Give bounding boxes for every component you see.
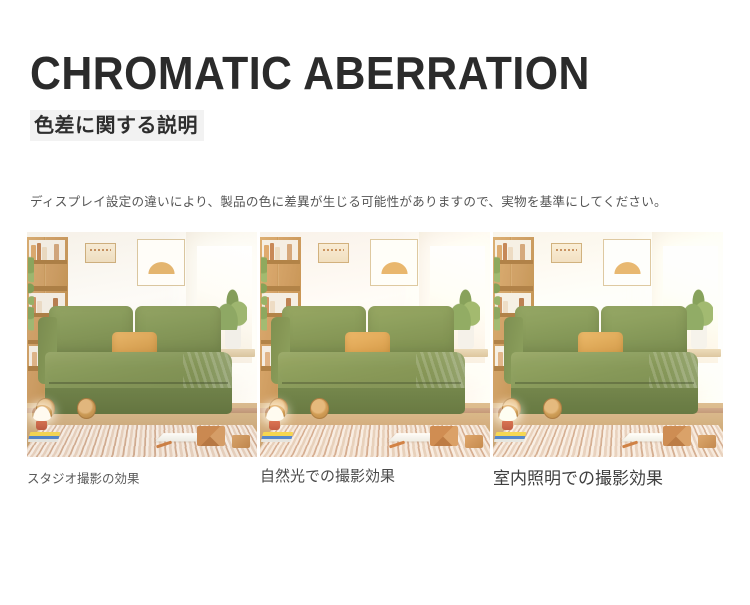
cup	[36, 421, 46, 430]
cup	[502, 421, 512, 430]
sofa-wheel	[543, 398, 562, 418]
sofa-seam	[515, 382, 694, 384]
wooden-blocks	[197, 426, 225, 446]
floor-lamp	[32, 405, 53, 421]
sofa-wheel	[310, 398, 329, 418]
sofa-seam	[49, 382, 228, 384]
subtitle-highlight: 色差に関する説明	[30, 110, 204, 141]
room-scene	[260, 232, 490, 457]
sofa-wheel	[77, 398, 96, 418]
sofa-bed	[278, 306, 464, 414]
shelf-bay	[29, 240, 65, 260]
sofa-front-panel	[511, 388, 697, 414]
open-magazine	[389, 433, 431, 441]
chromatic-aberration-page: CHROMATIC ABERRATION 色差に関する説明 ディスプレイ設定の違…	[0, 0, 750, 605]
floor-lamp	[498, 405, 519, 421]
wall-frame-large	[370, 239, 418, 286]
wall-frame-small	[318, 243, 350, 263]
caption-indoor-lighting: 室内照明での撮影効果	[493, 464, 727, 489]
stacked-books	[494, 432, 526, 442]
page-title: CHROMATIC ABERRATION	[30, 48, 681, 98]
sofa-seam	[282, 382, 461, 384]
caption-natural-light: 自然光での撮影効果	[260, 464, 493, 489]
open-magazine	[156, 433, 198, 441]
product-photo-gallery	[27, 232, 723, 457]
wooden-blocks	[430, 426, 458, 446]
wooden-blocks	[698, 435, 716, 449]
sofa-bed	[511, 306, 697, 414]
shelf-bay	[495, 240, 531, 260]
floor-lamp	[265, 405, 286, 421]
shelf-bay	[262, 240, 298, 260]
product-photo-indoor-lighting	[493, 232, 723, 457]
stacked-books	[28, 432, 60, 442]
shelf-plant-icon	[261, 256, 268, 333]
sofa-front-panel	[278, 388, 464, 414]
wall-frame-small	[85, 243, 117, 263]
sofa-bed	[45, 306, 231, 414]
page-subtitle: 色差に関する説明	[34, 113, 198, 137]
wooden-blocks	[663, 426, 691, 446]
wooden-blocks	[232, 435, 250, 449]
room-scene	[27, 232, 257, 457]
wooden-blocks	[465, 435, 483, 449]
wall-frame-large	[603, 239, 651, 286]
shelf-plant-icon	[494, 256, 501, 333]
caption-studio: スタジオ撮影の効果	[27, 464, 260, 489]
stacked-books	[261, 432, 293, 442]
heading-block: CHROMATIC ABERRATION 色差に関する説明	[30, 48, 730, 141]
wall-frame-small	[551, 243, 583, 263]
photo-captions: スタジオ撮影の効果 自然光での撮影効果 室内照明での撮影効果	[27, 464, 727, 489]
cup	[269, 421, 279, 430]
shelf-plant-icon	[28, 256, 35, 333]
open-magazine	[622, 433, 664, 441]
disclaimer-text: ディスプレイ設定の違いにより、製品の色に差異が生じる可能性がありますので、実物を…	[30, 192, 736, 211]
product-photo-studio	[27, 232, 257, 457]
wall-frame-large	[137, 239, 185, 286]
sofa-front-panel	[45, 388, 231, 414]
room-scene	[493, 232, 723, 457]
product-photo-natural-light	[260, 232, 490, 457]
